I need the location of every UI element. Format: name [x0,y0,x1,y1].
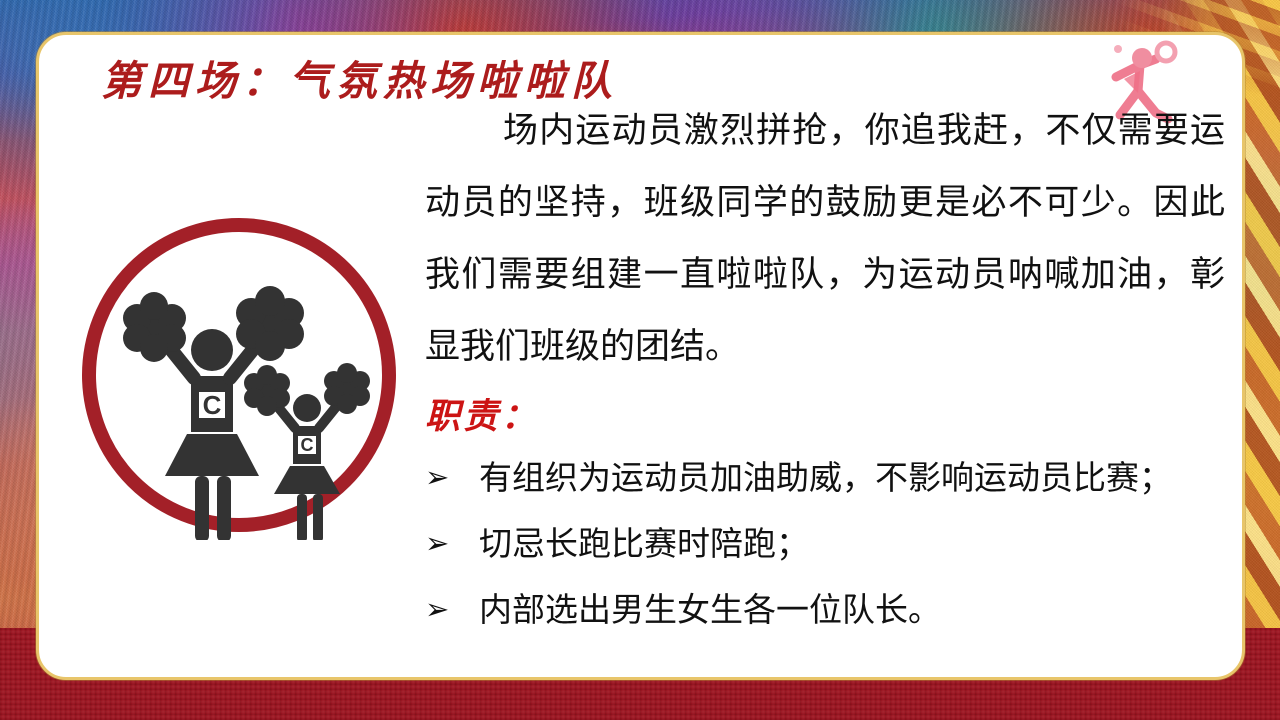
list-item: ➢ 切忌长跑比赛时陪跑； [425,511,1225,577]
text-column: 场内运动员激烈拼抢，你追我赶，不仅需要运动员的坚持，班级同学的鼓励更是必不可少。… [425,95,1225,643]
list-item-label: 切忌长跑比赛时陪跑； [479,511,1225,577]
arrow-bullet-icon: ➢ [425,577,479,643]
presentation-slide: 第四场：气氛热场啦啦队 [0,0,1280,720]
svg-text:C: C [203,390,222,420]
list-item: ➢ 有组织为运动员加油助威，不影响运动员比赛； [425,445,1225,511]
duty-heading: 职责： [425,389,1225,445]
list-item: ➢ 内部选出男生女生各一位队长。 [425,577,1225,643]
arrow-bullet-icon: ➢ [425,511,479,577]
list-item-label: 有组织为运动员加油助威，不影响运动员比赛； [479,445,1225,511]
cheerleader-emblem-icon: C [69,210,409,540]
duty-bullet-list: ➢ 有组织为运动员加油助威，不影响运动员比赛； ➢ 切忌长跑比赛时陪跑； ➢ 内… [425,445,1225,643]
intro-paragraph: 场内运动员激烈拼抢，你追我赶，不仅需要运动员的坚持，班级同学的鼓励更是必不可少。… [425,95,1225,383]
list-item-label: 内部选出男生女生各一位队长。 [479,577,1225,643]
content-card: 第四场：气氛热场啦啦队 [36,32,1245,680]
svg-text:C: C [301,435,314,455]
arrow-bullet-icon: ➢ [425,445,479,511]
